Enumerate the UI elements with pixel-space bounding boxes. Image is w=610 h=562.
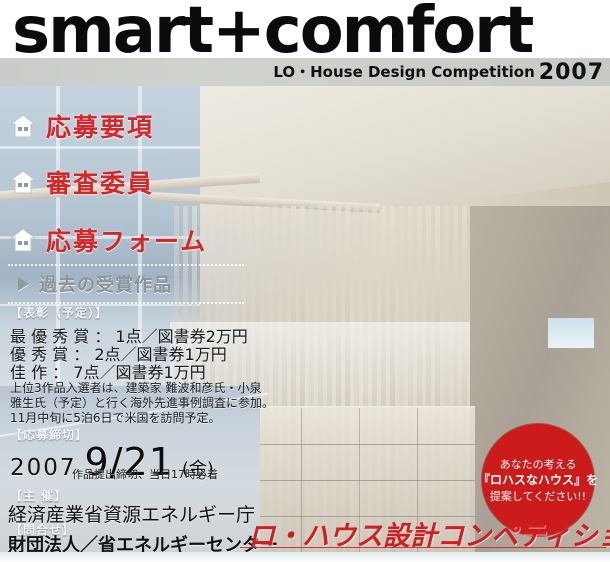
nav-item-guidelines[interactable]: 応募要項 (10, 108, 154, 144)
awards-section-label: 【表彰（予定）】 (10, 304, 108, 321)
nav-item-entry-form[interactable]: 応募フォーム (10, 222, 207, 258)
subtitle-year: 2007 (539, 60, 604, 85)
nav-item-label: 審査委員 (46, 164, 154, 200)
subtitle-text: LO・House Design Competition (273, 63, 534, 81)
play-triangle-icon (18, 277, 29, 291)
deadline-note: 作品提出締切、当日17時必着 (72, 466, 218, 482)
house-icon (10, 227, 36, 253)
footer-divider (240, 547, 606, 548)
nav-item-label: 応募フォーム (46, 222, 207, 258)
deadline-year: 2007 (10, 455, 77, 481)
photo-mullion (0, 146, 200, 149)
competition-banner: smart+comfort LO・House Design Competitio… (0, 0, 610, 562)
page-title: smart+comfort (12, 0, 532, 68)
banner-header: smart+comfort LO・House Design Competitio… (0, 0, 610, 86)
nav-item-label: 応募要項 (46, 108, 154, 144)
badge-line-1: あなたの考える (500, 458, 577, 471)
badge-line-3: 提案してください!! (490, 490, 586, 503)
house-icon (10, 169, 36, 195)
nav-item-past-works[interactable]: 過去の受賞作品 (8, 264, 244, 304)
past-works-label: 過去の受賞作品 (39, 271, 172, 297)
badge-line-2: 『ロハスなハウス』を (478, 474, 598, 487)
subtitle: LO・House Design Competition2007 (273, 60, 604, 85)
photo-right-window (548, 318, 594, 348)
bottom-band (0, 552, 610, 562)
awards-note-line: 11月中旬に5泊6日で米国を訪問予定。 (10, 409, 221, 426)
nav-item-judges[interactable]: 審査委員 (10, 164, 154, 200)
house-icon (10, 113, 36, 139)
